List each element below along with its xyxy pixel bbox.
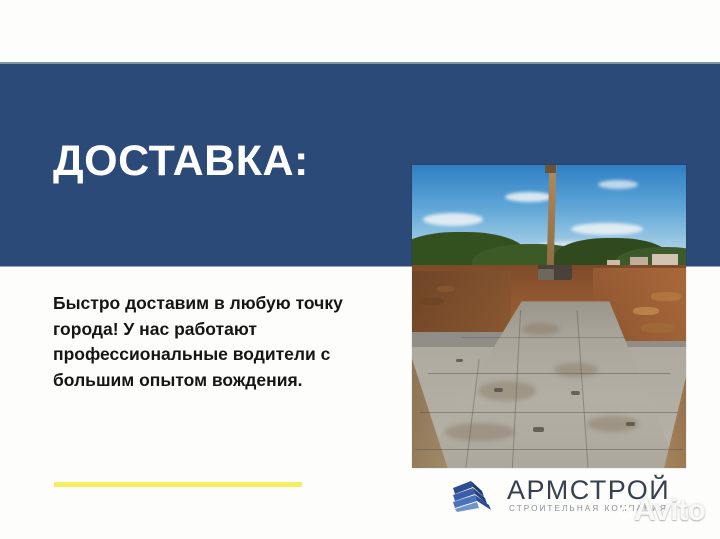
slab-seam [461, 337, 636, 338]
avito-watermark: Avito [619, 495, 705, 527]
slab-lifting-lug [456, 359, 463, 362]
slab-seam [415, 449, 684, 450]
rubble-shape [641, 323, 675, 333]
rubble-shape [633, 307, 659, 315]
construction-photo [412, 165, 686, 468]
slab-lifting-lug [494, 388, 503, 392]
building-mark-icon [451, 479, 499, 513]
slab-lifting-lug [533, 427, 544, 432]
avito-dot-icon [619, 506, 632, 519]
cloud-shape [571, 223, 643, 235]
rubble-shape [420, 298, 444, 305]
rubble-shape [437, 286, 455, 292]
accent-divider [54, 482, 302, 487]
slab-lifting-lug [571, 391, 580, 395]
page-title: ДОСТАВКА: [53, 137, 309, 185]
concrete-block [538, 269, 554, 280]
slab-seam [428, 373, 669, 374]
slab-seam [420, 412, 678, 413]
body-text: Быстро доставим в любую точку города! У … [53, 291, 383, 393]
road-stain [522, 323, 560, 335]
rubble-shape [651, 292, 681, 301]
slab-lifting-lug [626, 422, 635, 426]
avito-watermark-text: Avito [634, 494, 705, 527]
slide-canvas: ДОСТАВКА: Быстро доставим в любую точку … [0, 0, 720, 539]
drill-mast-top [545, 165, 556, 173]
road-stain [445, 423, 515, 441]
